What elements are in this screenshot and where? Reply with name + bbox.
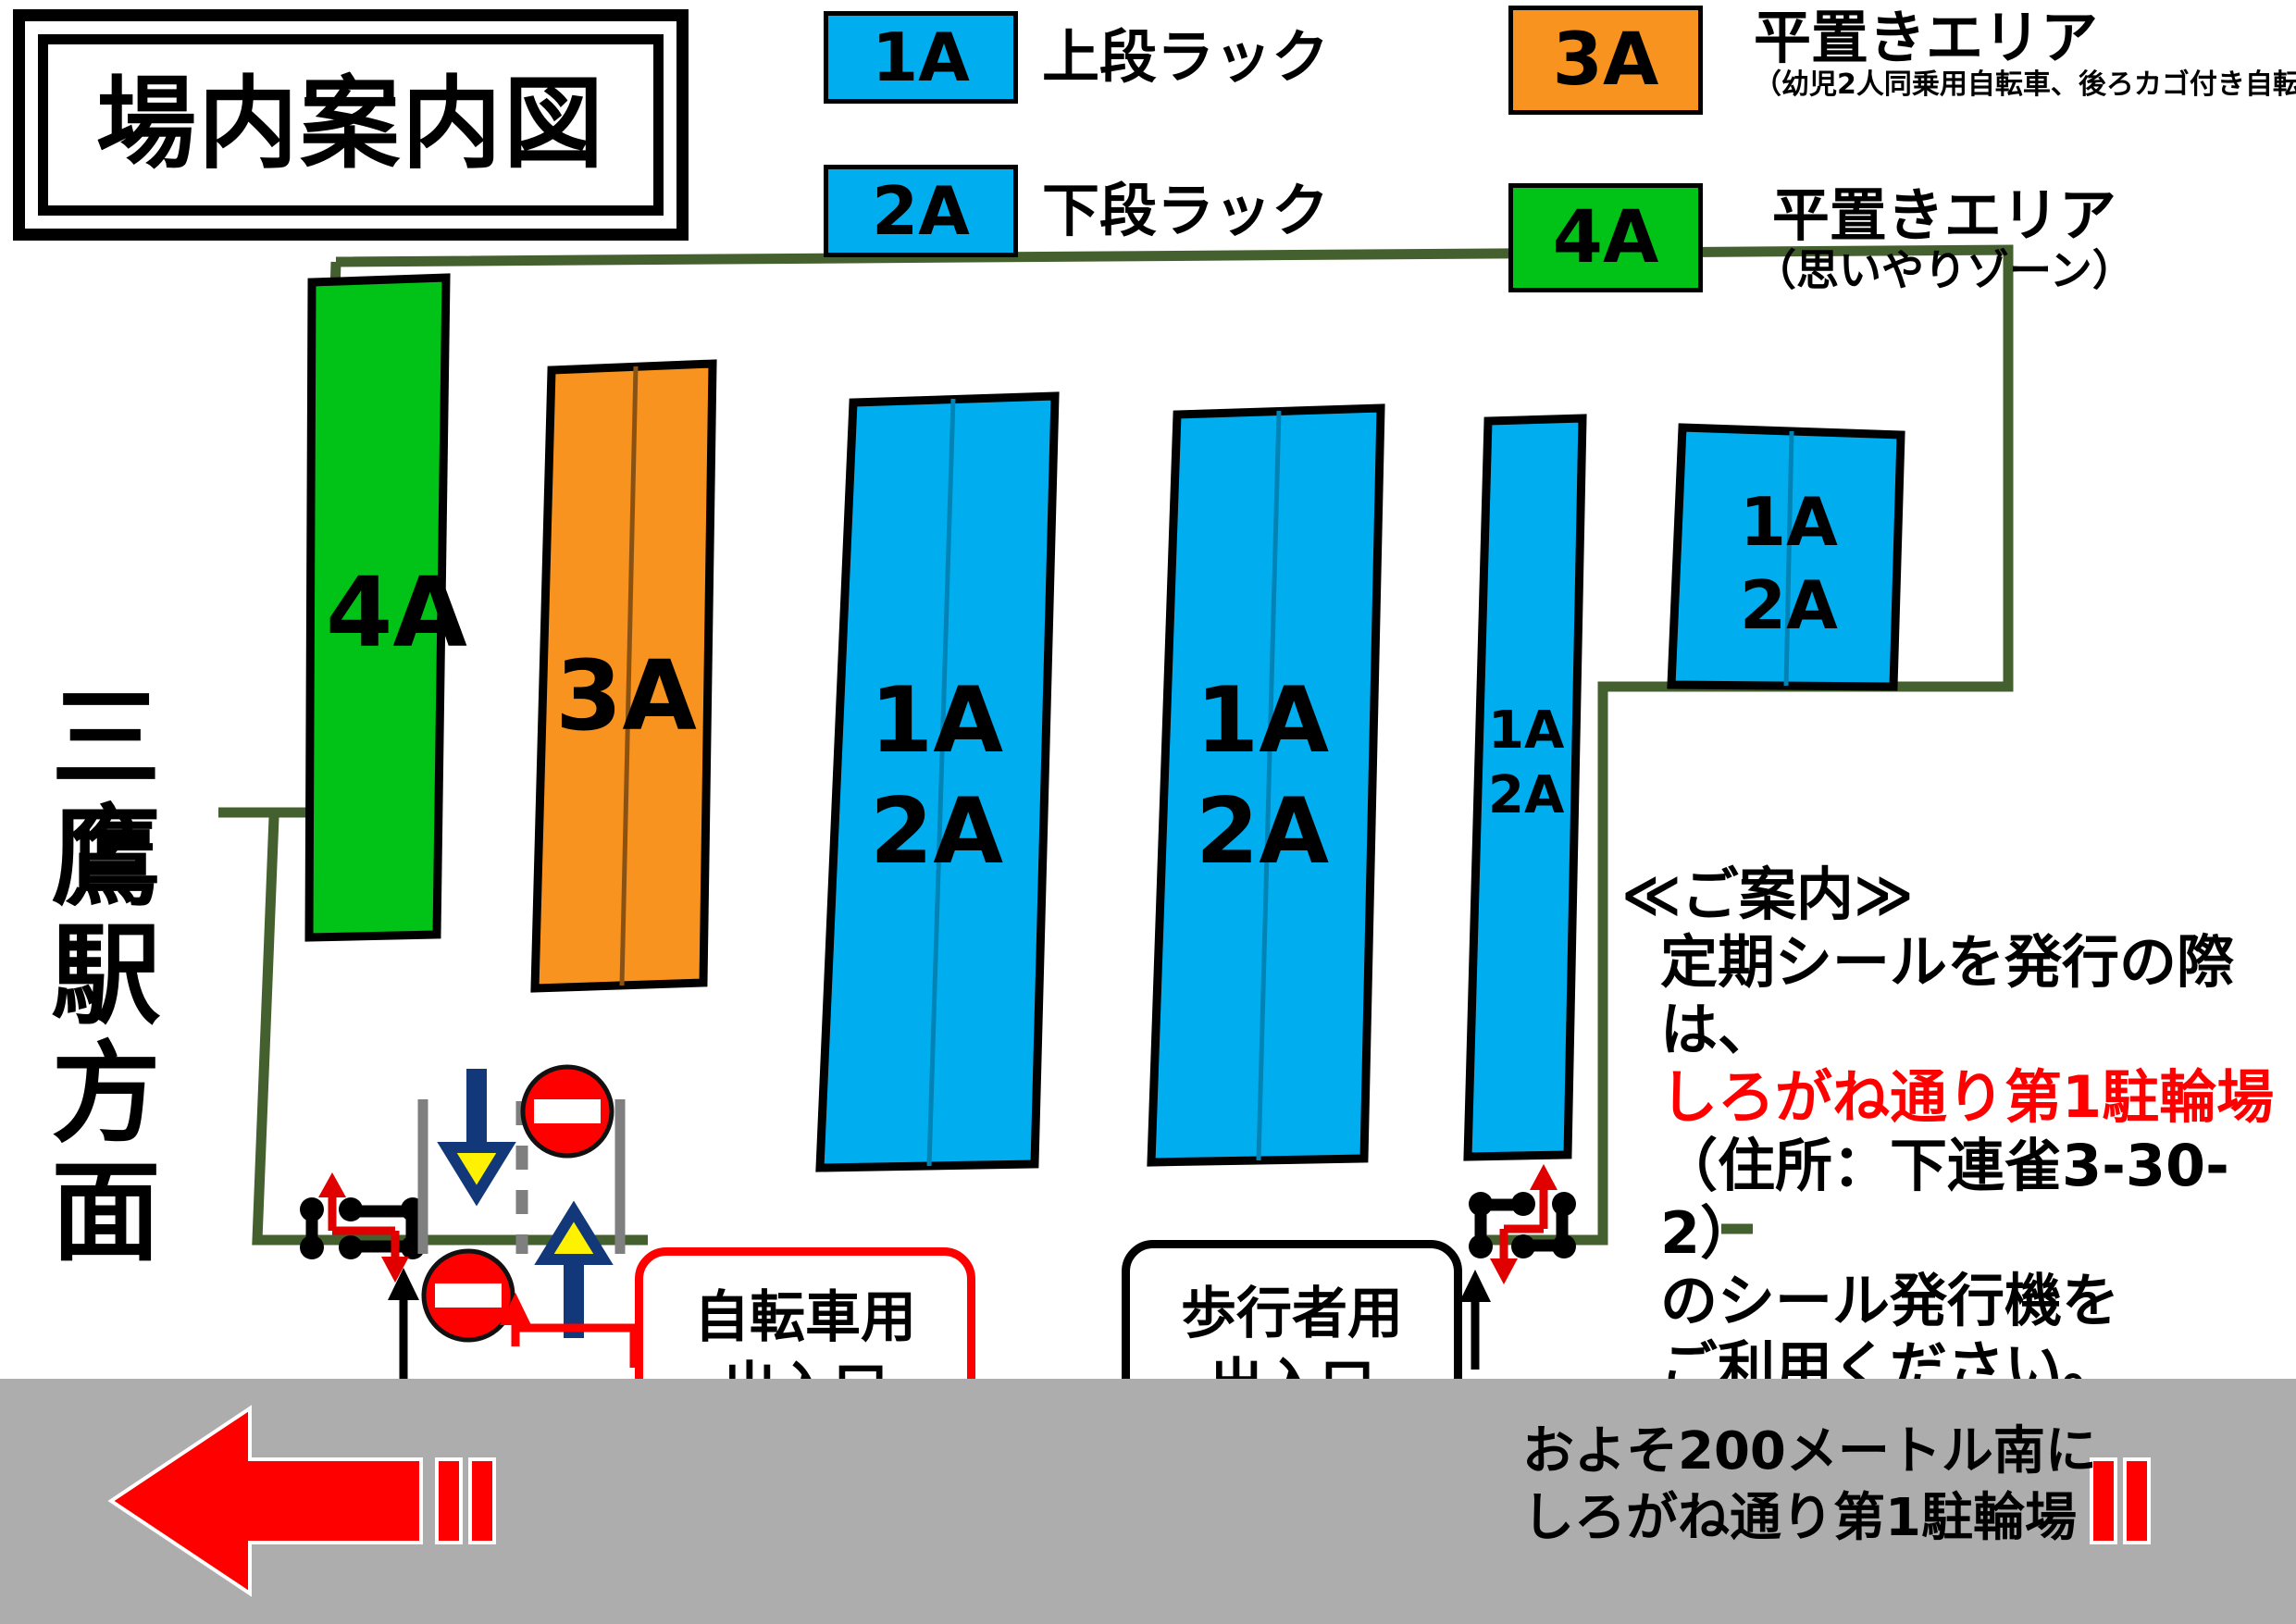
legend-item-4a: 4A 平置きエリア （思いやりゾーン）: [1508, 183, 2135, 294]
direction-label-mitaka-station: 三鷹駅方面: [42, 680, 151, 1272]
block-rack-4: [1671, 428, 1901, 687]
block-rack-2: [1151, 408, 1381, 1162]
legend-swatch-3a: 3A: [1508, 6, 1703, 115]
legend-sublabel-4a: （思いやりゾーン）: [1754, 247, 2135, 294]
no-entry-icon-top: [523, 1067, 612, 1156]
guidance-line-2: （住所：下連雀3-30-2）: [1660, 1132, 2288, 1267]
block-rack-3: [1468, 418, 1582, 1157]
legend-label-4a: 平置きエリア: [1772, 183, 2116, 247]
block-4a: [309, 278, 446, 937]
entrance-bicycle-line1: 自転車用: [694, 1283, 916, 1354]
legend-item-2a: 2A 下段ラック: [824, 165, 1329, 257]
road-note-line2: しろがね通り第1駐輪場: [1522, 1485, 2097, 1552]
guidance-line-1: 定期シールを発行の際は、: [1660, 928, 2288, 1063]
flow-arrow-down-icon: [447, 1074, 506, 1196]
block-3a: [535, 364, 713, 988]
block-rack-1: [820, 396, 1055, 1168]
flow-arrow-up-icon: [544, 1211, 603, 1333]
legend-sublabel-3a: （幼児2人同乗用自転車、後ろカゴ付き自転車専用）: [1754, 69, 2296, 100]
guidance-highlight: しろがね通り第1駐輪場: [1660, 1063, 2288, 1131]
guidance-line-3: のシール発行機を: [1660, 1267, 2288, 1334]
legend-label-2a: 下段ラック: [1042, 179, 1329, 242]
gate-barrier-right: [1469, 1164, 1576, 1284]
legend-item-1a: 1A 上段ラック: [824, 11, 1329, 104]
page-title: 場内案内図: [96, 75, 605, 175]
legend-item-3a: 3A 平置きエリア （幼児2人同乗用自転車、後ろカゴ付き自転車専用）: [1508, 6, 2296, 115]
legend-swatch-4a: 4A: [1508, 183, 1703, 292]
gate-barrier-left: [300, 1172, 425, 1283]
legend-label-1a: 上段ラック: [1042, 25, 1329, 89]
guidance-heading: ≪ご案内≫: [1621, 861, 2288, 928]
road-arrow-left-icon: [111, 1408, 494, 1593]
legend-swatch-1a: 1A: [824, 11, 1018, 104]
guidance-panel: ≪ご案内≫ 定期シールを発行の際は、 しろがね通り第1駐輪場 （住所：下連雀3-…: [1621, 861, 2288, 1402]
legend-swatch-2a: 2A: [824, 165, 1018, 257]
entrance-pedestrian-line1: 歩行者用: [1181, 1279, 1403, 1350]
pedestrian-arrow-icon-2: [1459, 1270, 1491, 1302]
map-poster: 場内案内図 1A 上段ラック 2A 下段ラック 3A 平置きエリア （幼児2人同…: [0, 0, 2296, 1624]
no-entry-icon-bottom: [424, 1251, 513, 1340]
road-note: およそ200メートル南に しろがね通り第1駐輪場: [1522, 1419, 2097, 1551]
poster-title-box: 場内案内図: [13, 9, 689, 241]
legend-label-3a: 平置きエリア: [1754, 6, 2296, 69]
road-note-line1: およそ200メートル南に: [1522, 1419, 2097, 1485]
road-arrow-right-icon: [2091, 1408, 2296, 1593]
